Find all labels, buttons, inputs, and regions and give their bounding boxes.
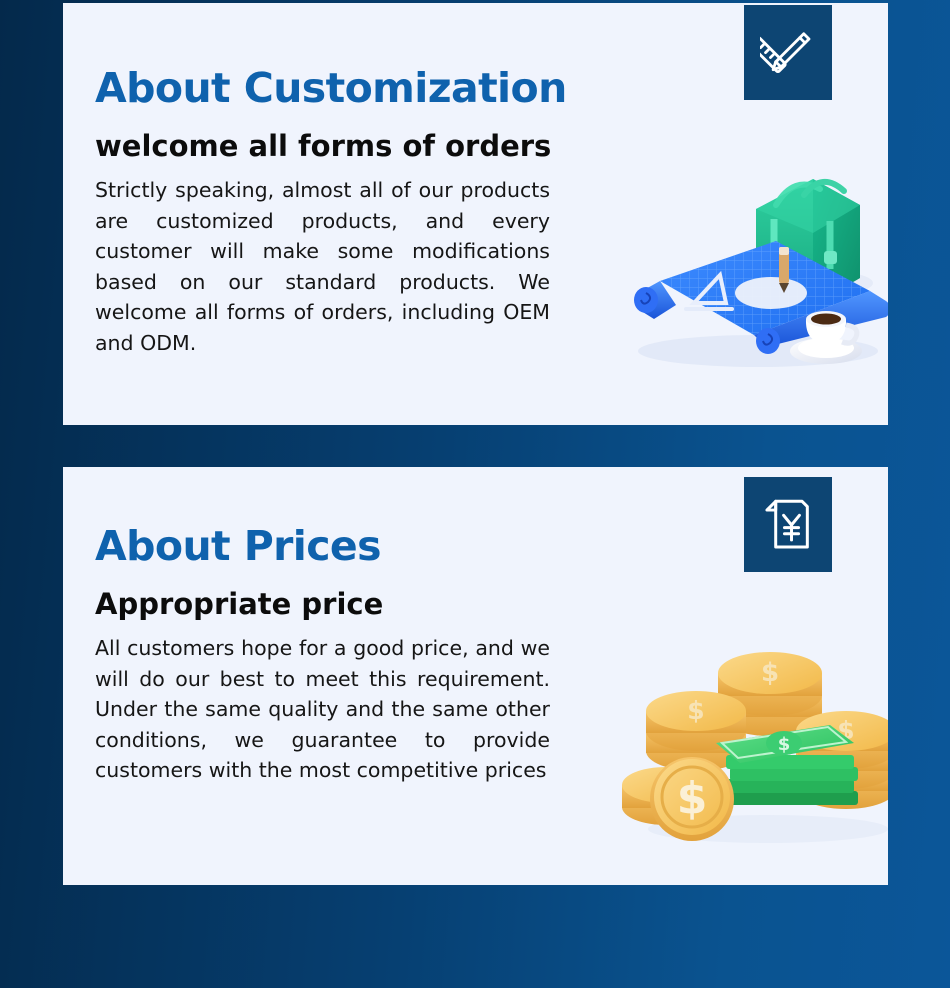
card-paragraph: Strictly speaking, almost all of our pro…: [95, 175, 550, 358]
blueprint-roll-right: [754, 291, 888, 354]
coin-front-large: $: [650, 757, 734, 841]
svg-text:$: $: [778, 734, 791, 755]
blueprint-roll-left: [634, 281, 676, 319]
ruler-pencil-icon: [744, 5, 832, 100]
briefcase: [756, 179, 860, 305]
coffee-cup: [790, 311, 862, 364]
yen-invoice-glyph: [761, 496, 815, 554]
card-prices-body: About Prices Appropriate price All custo…: [95, 525, 595, 786]
coin-stack-right: $: [796, 711, 888, 809]
coin-stack-back-center: $: [718, 652, 822, 736]
card-subtitle: Appropriate price: [95, 588, 595, 621]
coin-stack-bottom-left: [622, 767, 710, 825]
card-about-prices: $ $ $: [63, 467, 888, 885]
svg-text:$: $: [837, 716, 854, 745]
svg-text:$: $: [761, 658, 779, 688]
blueprint-briefcase-coffee-illustration: [608, 143, 888, 393]
banknote-stack: $: [716, 725, 858, 805]
card-customization-body: About Customization welcome all forms of…: [95, 67, 595, 358]
ruler-pencil-glyph: [760, 25, 816, 81]
blueprint-scene-svg: [608, 143, 888, 393]
card-subtitle: welcome all forms of orders: [95, 130, 595, 163]
blueprint-sheet: [660, 241, 870, 335]
coins-banknotes-illustration: $ $ $: [618, 639, 888, 849]
page-title: About Customization: [95, 67, 595, 110]
yen-invoice-icon: [744, 477, 832, 572]
svg-text:$: $: [677, 773, 708, 824]
card-about-customization: About Customization welcome all forms of…: [63, 3, 888, 425]
svg-text:$: $: [687, 696, 704, 725]
money-scene-svg: $ $ $: [618, 639, 888, 849]
page-title: About Prices: [95, 525, 595, 568]
pencil: [779, 247, 789, 293]
card-paragraph: All customers hope for a good price, and…: [95, 633, 550, 786]
coin-stack-left: $: [646, 691, 746, 771]
